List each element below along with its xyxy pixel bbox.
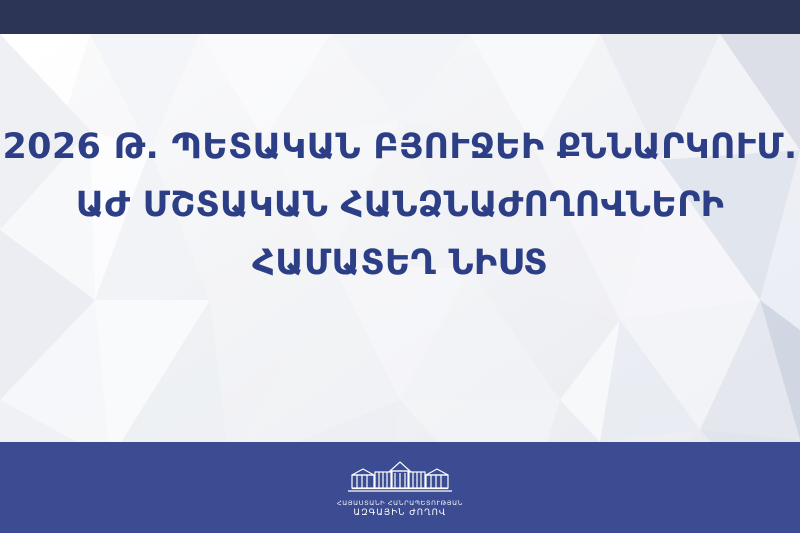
headline-line-1: 2026 Թ. ՊԵՏԱԿԱՆ ԲՅՈՒՋԵԻ ՔՆՆԱՐԿՈՒՄ. [0,118,800,176]
emblem-caption-line-2: ԱԶԳԱՅԻՆ ԺՈՂՈՎ [337,508,463,518]
emblem-block: ՀԱՅԱՍՏԱՆԻ ՀԱՆՐԱՊԵՏՈՒԹՅԱՆ ԱԶԳԱՅԻՆ ԺՈՂՈՎ [337,459,463,518]
page-title: 2026 Թ. ՊԵՏԱԿԱՆ ԲՅՈՒՋԵԻ ՔՆՆԱՐԿՈՒՄ. ԱԺ ՄՇ… [0,118,800,292]
emblem-caption: ՀԱՅԱՍՏԱՆԻ ՀԱՆՐԱՊԵՏՈՒԹՅԱՆ ԱԶԳԱՅԻՆ ԺՈՂՈՎ [337,498,463,518]
headline-line-3: ՀԱՄԱՏԵՂ ՆԻՍՏ [0,234,800,292]
top-band [0,0,800,34]
headline-line-2: ԱԺ ՄՇՏԱԿԱՆ ՀԱՆՁՆԱԺՈՂՈՎՆԵՐԻ [0,176,800,234]
emblem-caption-line-1: ՀԱՅԱՍՏԱՆԻ ՀԱՆՐԱՊԵՏՈՒԹՅԱՆ [337,498,463,508]
bottom-bar: ՀԱՅԱՍՏԱՆԻ ՀԱՆՐԱՊԵՏՈՒԹՅԱՆ ԱԶԳԱՅԻՆ ԺՈՂՈՎ [0,442,800,533]
parliament-building-emblem-icon [344,459,456,495]
banner: 2026 Թ. ՊԵՏԱԿԱՆ ԲՅՈՒՋԵԻ ՔՆՆԱՐԿՈՒՄ. ԱԺ ՄՇ… [0,0,800,533]
